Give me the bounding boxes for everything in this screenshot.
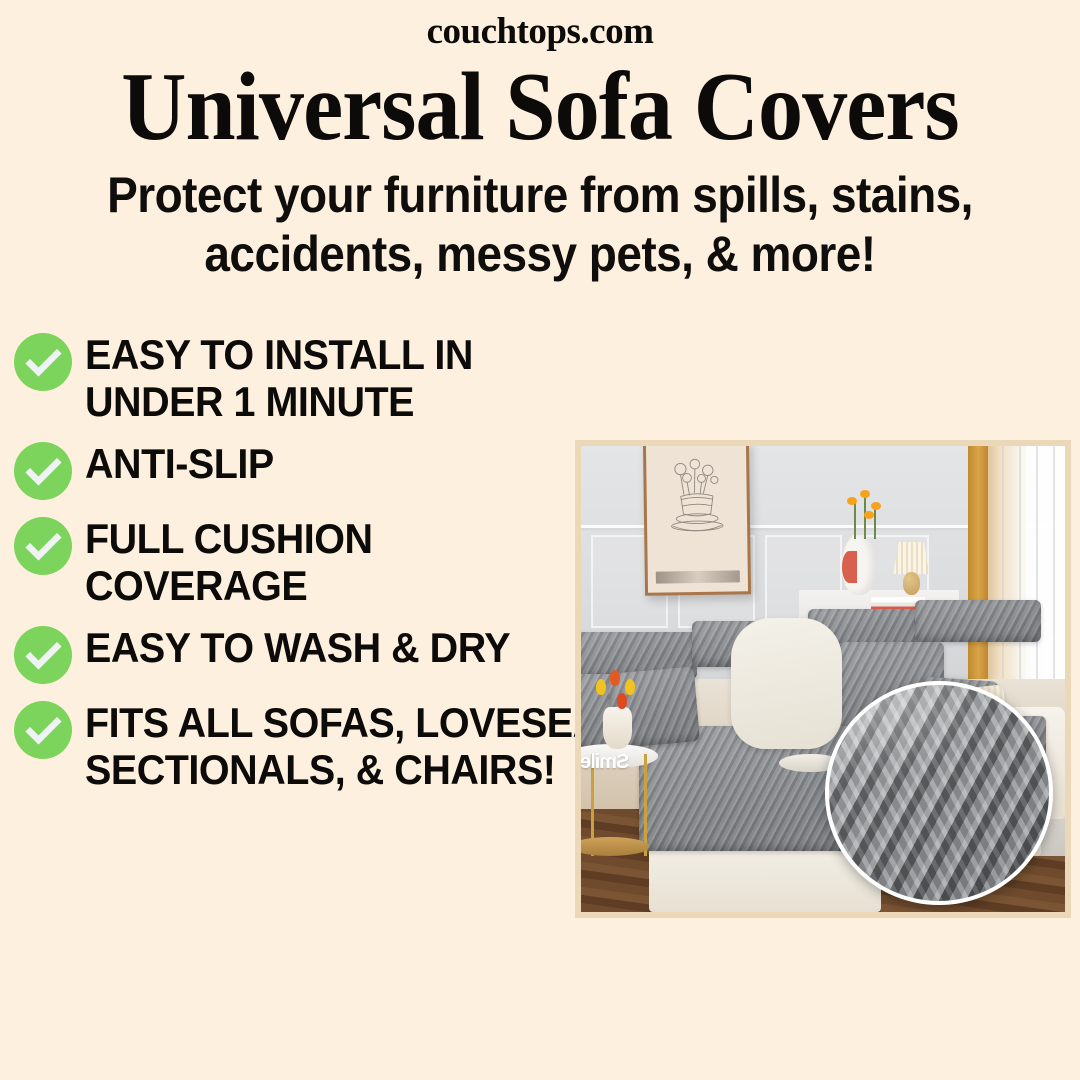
subtitle: Protect your furniture from spills, stai… <box>69 166 1011 284</box>
fabric-closeup-inset <box>825 681 1052 905</box>
wall-art-mat <box>646 446 749 593</box>
list-item: EASY TO INSTALL IN UNDER 1 MINUTE <box>14 330 574 425</box>
benefit-label: EASY TO INSTALL IN UNDER 1 MINUTE <box>85 330 545 425</box>
page-title: Universal Sofa Covers <box>38 58 1042 155</box>
benefit-label: EASY TO WASH & DRY <box>85 623 510 671</box>
check-circle-icon <box>14 517 72 575</box>
tulip-vase <box>603 707 632 749</box>
list-item: FULL CUSHION COVERAGE <box>14 514 574 609</box>
product-photo: Smile <box>581 446 1065 912</box>
flower-sketch-icon <box>656 456 738 546</box>
check-circle-icon <box>14 442 72 500</box>
uncovered-cushion <box>731 618 842 748</box>
sofa-cover-backrest <box>915 600 1041 642</box>
advertisement-root: couchtops.com Universal Sofa Covers Prot… <box>0 0 1080 1080</box>
benefits-list: EASY TO INSTALL IN UNDER 1 MINUTE ANTI-S… <box>14 330 574 807</box>
benefit-label: ANTI-SLIP <box>85 439 274 487</box>
table-lamp-base <box>903 572 920 595</box>
wall-art-caption <box>656 571 741 584</box>
benefit-label: FULL CUSHION COVERAGE <box>85 514 545 609</box>
check-circle-icon <box>14 701 72 759</box>
wall-art-frame <box>643 446 752 596</box>
list-item: ANTI-SLIP <box>14 439 574 500</box>
brand-domain: couchtops.com <box>0 10 1080 53</box>
flower-vase <box>842 535 876 596</box>
check-circle-icon <box>14 626 72 684</box>
table-lamp-shade <box>893 542 929 575</box>
product-photo-frame: Smile <box>575 440 1071 918</box>
list-item: EASY TO WASH & DRY <box>14 623 574 684</box>
smile-decor-word: Smile <box>581 751 629 774</box>
check-circle-icon <box>14 333 72 391</box>
